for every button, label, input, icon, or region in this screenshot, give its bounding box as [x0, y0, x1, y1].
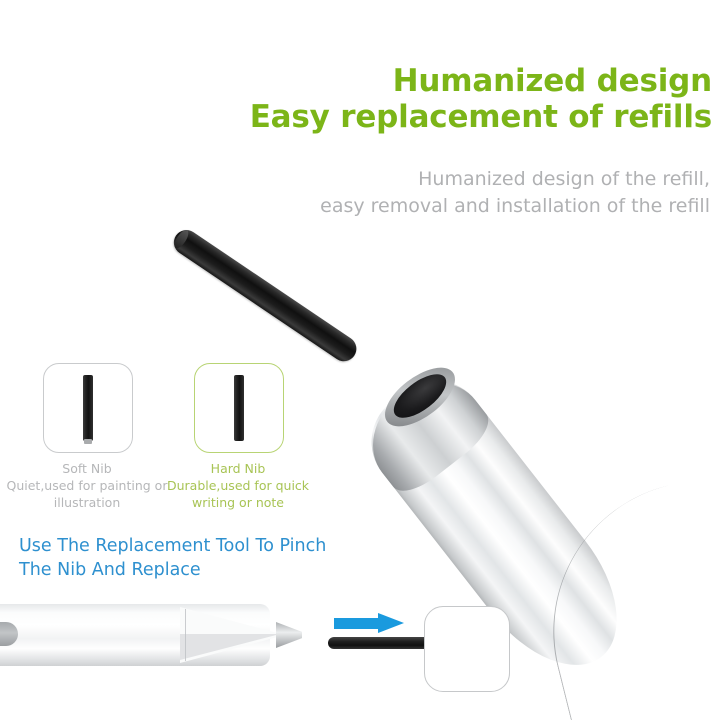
stylus-metal-tip — [276, 622, 302, 648]
stylus-taper-shadow — [180, 634, 280, 660]
soft-nib-tip — [84, 439, 92, 444]
page-subtitle: Humanized design of the refill, easy rem… — [150, 166, 710, 220]
page-title: Humanized design Easy replacement of ref… — [152, 64, 712, 136]
instruction-text: Use The Replacement Tool To Pinch The Ni… — [19, 534, 349, 582]
instruction-line-1: Use The Replacement Tool To Pinch — [19, 534, 349, 558]
stylus-seam-line — [185, 609, 186, 661]
headline-line-1: Humanized design — [152, 64, 712, 100]
hard-nib-desc-1: Durable,used for quick — [138, 478, 338, 495]
product-feature-graphic: Humanized design Easy replacement of ref… — [0, 0, 720, 720]
subtitle-line-2: easy removal and installation of the ref… — [150, 193, 710, 220]
arrow-shaft — [334, 618, 382, 629]
arrow-head — [378, 613, 404, 633]
hard-nib-title: Hard Nib — [138, 461, 338, 478]
hard-nib-desc-2: writing or note — [138, 495, 338, 512]
headline-line-2: Easy replacement of refills — [152, 100, 712, 136]
soft-nib-icon — [83, 375, 93, 441]
stylus-pen-illustration — [0, 604, 300, 666]
hard-nib-icon — [234, 375, 244, 441]
subtitle-line-1: Humanized design of the refill, — [150, 166, 710, 193]
nib-swatch-hard[interactable] — [194, 363, 284, 453]
insert-direction-arrow-icon — [334, 613, 406, 633]
detached-nib-rod-illustration — [169, 225, 361, 366]
nib-caption-hard: Hard Nib Durable,used for quick writing … — [138, 461, 338, 511]
replacement-tool-illustration — [424, 606, 510, 692]
nib-swatch-soft[interactable] — [43, 363, 133, 453]
instruction-line-2: The Nib And Replace — [19, 558, 349, 582]
